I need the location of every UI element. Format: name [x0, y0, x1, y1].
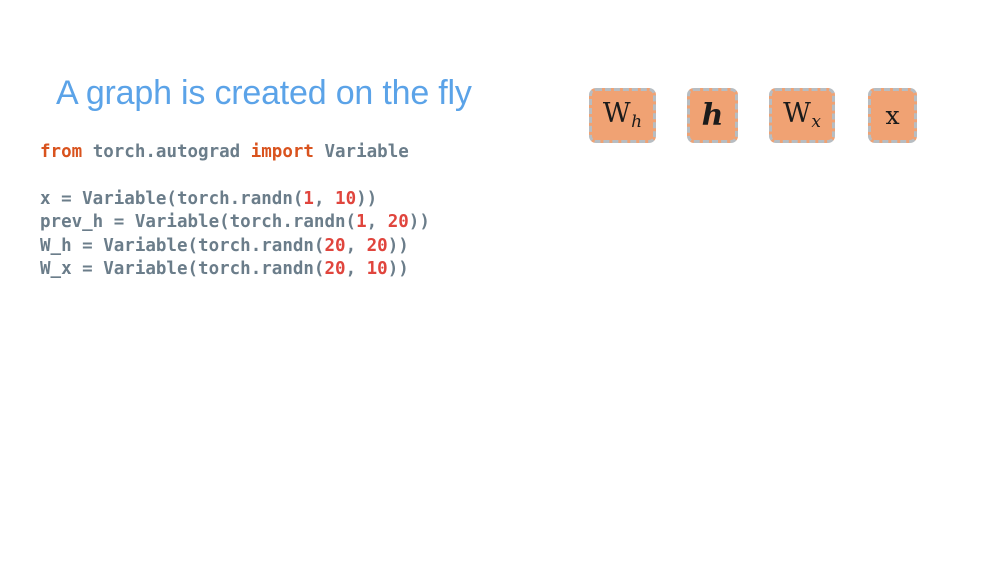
code-line: W_h = Variable(torch.randn(20, 20)): [40, 235, 430, 258]
page-title: A graph is created on the fly: [56, 72, 472, 114]
slide-canvas: A graph is created on the fly from torch…: [0, 0, 1000, 562]
code-token-punct: ,: [314, 189, 335, 209]
code-token-name: torch.autograd: [82, 142, 251, 162]
graph-node-subscript: h: [631, 112, 642, 132]
code-token-punct: )): [388, 259, 409, 279]
code-token-num: 20: [324, 259, 345, 279]
graph-node-label: h: [702, 101, 724, 131]
graph-node-label: x: [885, 103, 899, 128]
graph-node-h[interactable]: h: [687, 88, 738, 143]
graph-node-w-x[interactable]: Wx: [769, 88, 835, 143]
code-line: from torch.autograd import Variable: [40, 141, 430, 164]
code-token-name: W_x = Variable(torch.randn(: [40, 259, 324, 279]
code-token-num: 20: [324, 236, 345, 256]
graph-node-base: h: [702, 98, 724, 133]
code-token-kw: import: [251, 142, 314, 162]
graph-node-base: x: [885, 101, 899, 130]
code-token-num: 20: [388, 212, 409, 232]
graph-node-base: W: [783, 98, 811, 129]
graph-node-x[interactable]: x: [868, 88, 917, 143]
code-token-num: 10: [367, 259, 388, 279]
code-token-num: 20: [367, 236, 388, 256]
graph-node-base: W: [603, 98, 631, 129]
graph-node-label: Wh: [603, 100, 642, 131]
code-token-name: Variable: [314, 142, 409, 162]
code-token-num: 10: [335, 189, 356, 209]
code-token-punct: ,: [346, 236, 367, 256]
code-line: x = Variable(torch.randn(1, 10)): [40, 188, 430, 211]
code-token-name: W_h = Variable(torch.randn(: [40, 236, 324, 256]
code-line: W_x = Variable(torch.randn(20, 10)): [40, 258, 430, 281]
code-token-kw: from: [40, 142, 82, 162]
code-token-punct: )): [388, 236, 409, 256]
code-line: [40, 164, 430, 187]
graph-node-w-h[interactable]: Wh: [589, 88, 656, 143]
code-line: prev_h = Variable(torch.randn(1, 20)): [40, 211, 430, 234]
code-token-punct: ,: [346, 259, 367, 279]
graph-node-subscript: x: [811, 112, 821, 132]
code-token-name: prev_h = Variable(torch.randn(: [40, 212, 356, 232]
code-token-punct: )): [356, 189, 377, 209]
code-token-punct: ,: [367, 212, 388, 232]
graph-node-label: Wx: [783, 100, 821, 131]
code-token-num: 1: [356, 212, 367, 232]
code-token-num: 1: [303, 189, 314, 209]
code-block: from torch.autograd import Variable x = …: [40, 141, 430, 281]
code-token-punct: )): [409, 212, 430, 232]
code-token-name: x = Variable(torch.randn(: [40, 189, 303, 209]
